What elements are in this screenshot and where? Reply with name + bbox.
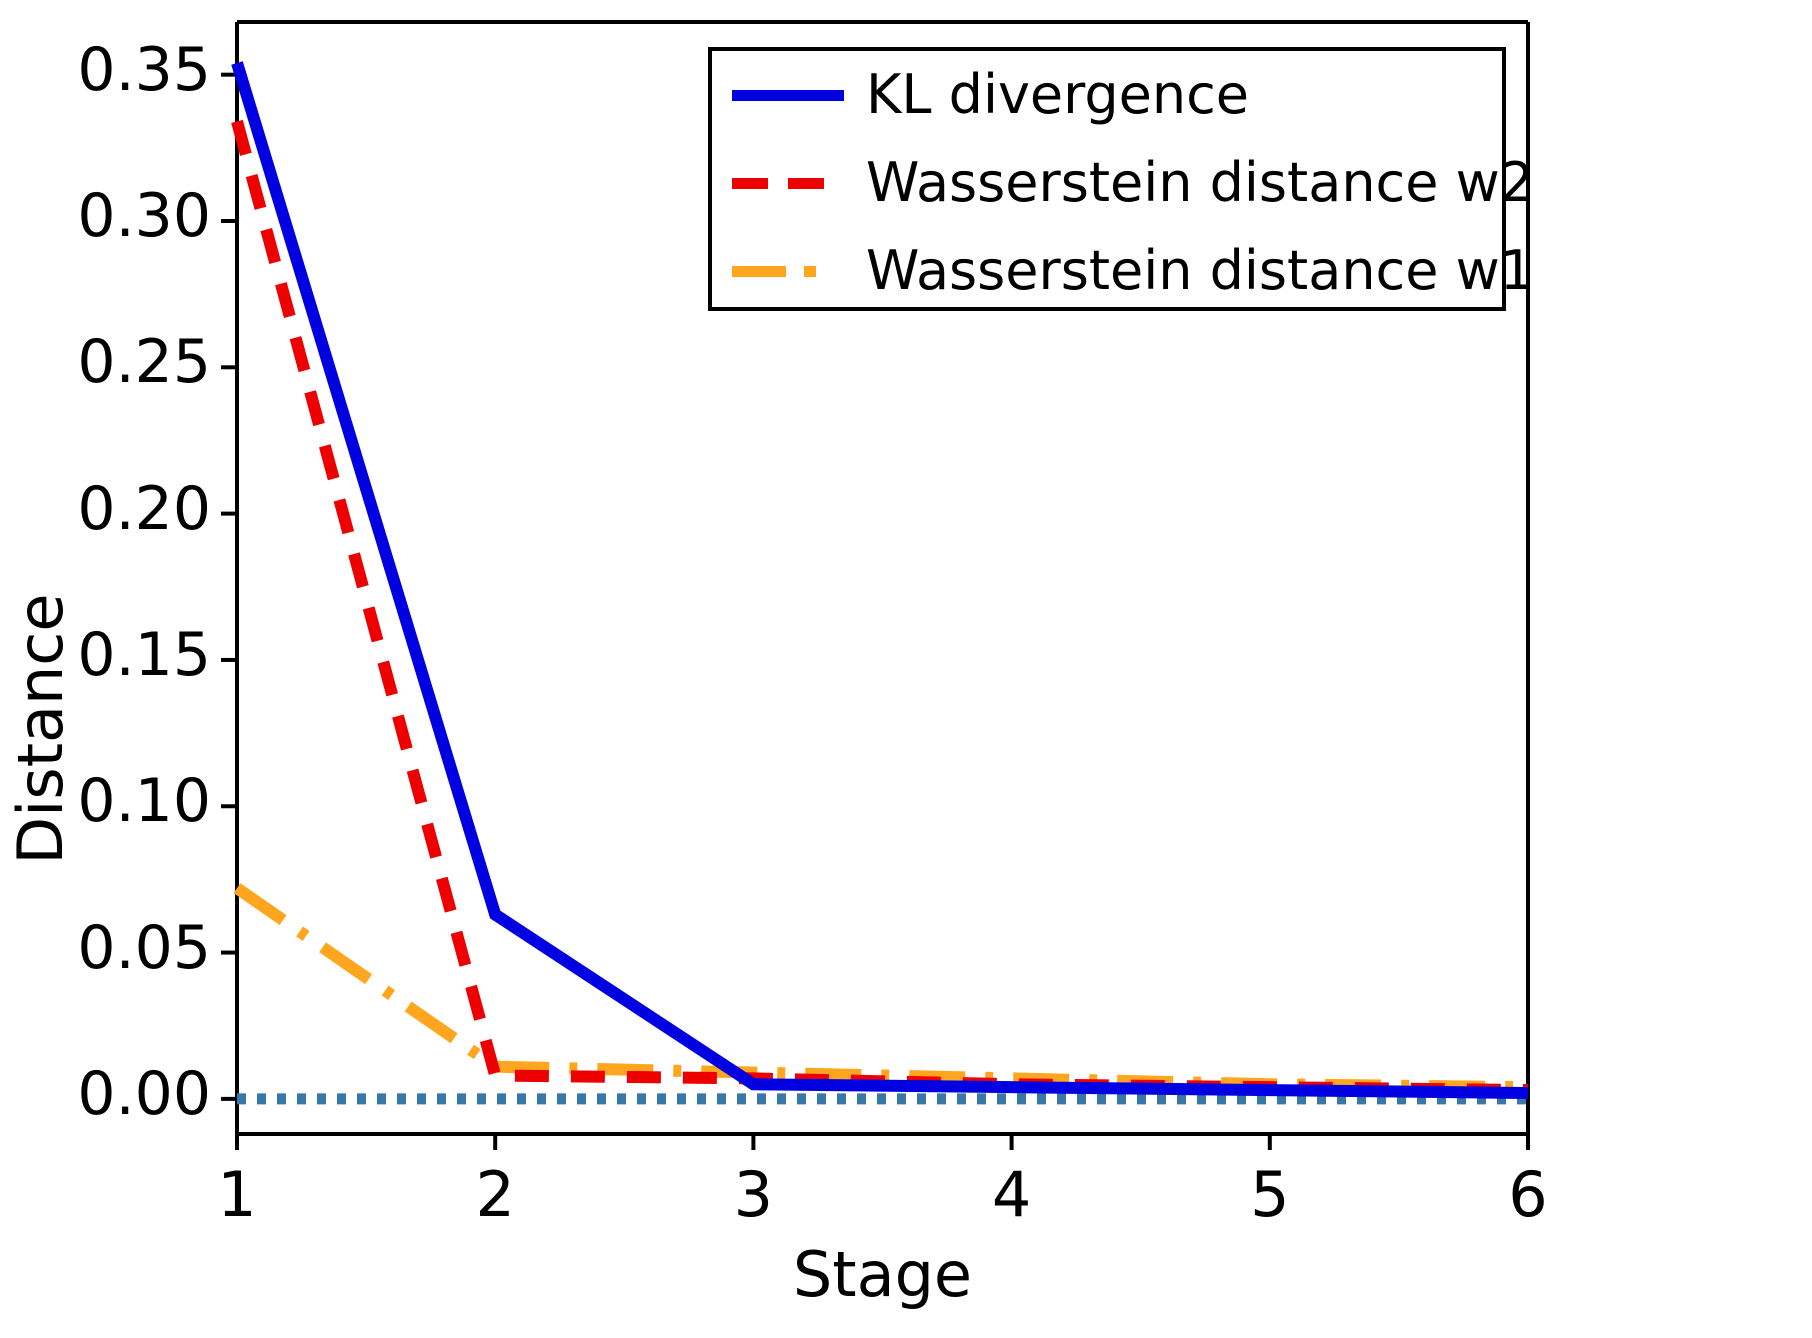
dashdot-line-swatch — [732, 258, 844, 284]
legend-label-0: KL divergence — [866, 68, 1249, 122]
x-tick-label: 4 — [952, 1158, 1072, 1231]
y-tick-label: 0.35 — [77, 35, 211, 105]
y-tick-label: 0.20 — [77, 474, 211, 544]
x-tick-label: 1 — [177, 1158, 297, 1231]
legend-item-wasserstein-w2: Wasserstein distance w2 — [712, 139, 1502, 227]
x-tick-label: 5 — [1210, 1158, 1330, 1231]
series-line-wasserstein-distance-w1 — [237, 888, 1528, 1087]
legend-item-wasserstein-w1: Wasserstein distance w1 — [712, 227, 1502, 315]
legend: KL divergence Wasserstein distance w2 Wa… — [708, 47, 1506, 311]
y-tick-label: 0.05 — [77, 913, 211, 983]
chart-figure: Distance 0.000.050.100.150.200.250.300.3… — [0, 0, 1812, 1338]
x-tick-label: 3 — [693, 1158, 813, 1231]
y-tick-label: 0.10 — [77, 766, 211, 836]
y-tick-label: 0.00 — [77, 1059, 211, 1129]
legend-label-2: Wasserstein distance w1 — [866, 244, 1534, 298]
x-tick-label: 6 — [1468, 1158, 1588, 1231]
x-tick-label: 2 — [435, 1158, 555, 1231]
dashed-line-swatch — [732, 170, 844, 196]
y-tick-label: 0.30 — [77, 181, 211, 251]
solid-line-swatch — [732, 82, 844, 108]
legend-label-1: Wasserstein distance w2 — [866, 156, 1534, 210]
legend-item-kl-divergence: KL divergence — [712, 51, 1502, 139]
x-axis-title: Stage — [237, 1238, 1528, 1311]
y-tick-label: 0.15 — [77, 620, 211, 690]
y-tick-label: 0.25 — [77, 327, 211, 397]
